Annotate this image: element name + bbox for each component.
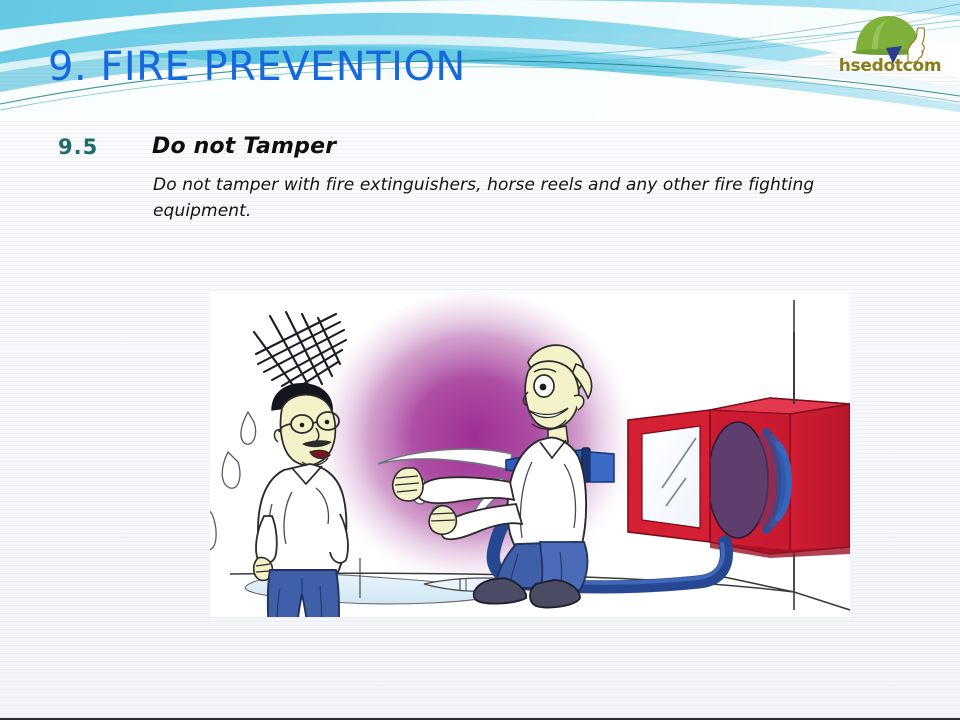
section-body-text: Do not tamper with fire extinguishers, h… [153, 172, 853, 225]
section-heading: Do not Tamper [152, 134, 336, 159]
logo[interactable]: hsedotcom [830, 4, 950, 78]
logo-text: hsedotcom [830, 56, 950, 76]
cabinet-glass-door [628, 410, 710, 542]
slide: 9. FIRE PREVENTION hsedotcom 9.5 Do not … [0, 0, 960, 720]
section-number: 9.5 [58, 135, 98, 159]
hard-hat-icon [830, 4, 950, 64]
illustration-fire-hose-cartoon [210, 292, 850, 617]
page-title: 9. FIRE PREVENTION [48, 44, 466, 90]
purple-glow [315, 292, 635, 592]
